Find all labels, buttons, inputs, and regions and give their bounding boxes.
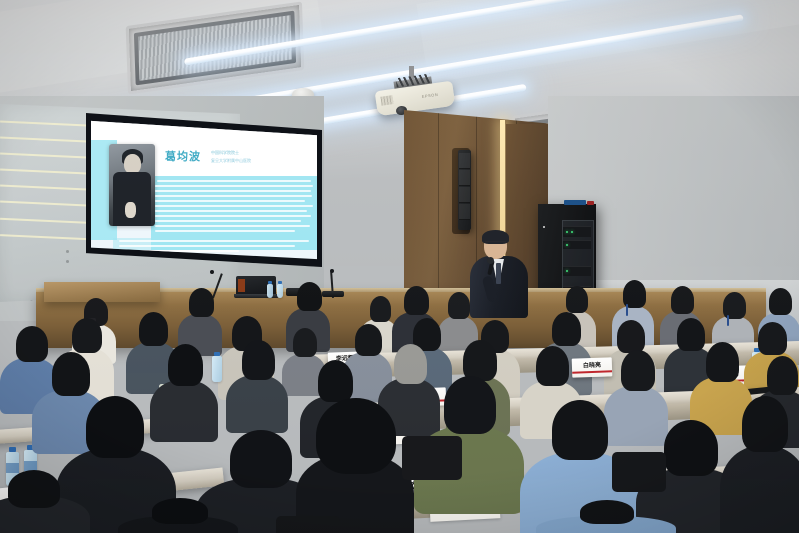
attendee-r5-2 xyxy=(118,498,238,533)
wall-line-array-speaker xyxy=(458,150,471,230)
podium-water-bottle-2 xyxy=(277,284,283,298)
rack-top-accessory-2 xyxy=(587,201,594,205)
podium-mic-head-1 xyxy=(210,270,214,274)
podium-water-bottle-1 xyxy=(267,284,273,298)
chair-back-3 xyxy=(276,516,340,533)
chair-back-2 xyxy=(612,452,666,492)
projection-screen-frame: 葛均波 中国科学院院士 复旦大学附属中山医院 xyxy=(86,113,322,267)
slide-portrait-photo xyxy=(109,144,155,226)
projection-screen-surface: 葛均波 中国科学院院士 复旦大学附属中山医院 xyxy=(91,118,317,262)
attendee-r3-3 xyxy=(226,340,288,428)
slide-honoree-name: 葛均波 xyxy=(165,148,201,164)
microphone-head xyxy=(487,257,494,264)
slide-subtitle-line-2: 复旦大学附属中山医院 xyxy=(211,158,251,164)
podium-mic-head-2 xyxy=(330,269,334,273)
attendee-r1-2 xyxy=(178,288,222,350)
chair-back-1 xyxy=(402,436,462,480)
conference-hall-photo: EPSON xyxy=(0,0,799,533)
standing-speaker xyxy=(470,232,528,316)
attendee-r4-7 xyxy=(720,396,799,533)
attendee-r5-3 xyxy=(536,500,676,533)
podium-laptop-accent xyxy=(238,279,245,292)
attendee-r4-3-woman xyxy=(296,398,414,533)
rack-top-accessory xyxy=(564,200,586,205)
projector-brand-label: EPSON xyxy=(421,92,438,99)
slide-subtitle-line-1: 中国科学院院士 xyxy=(211,150,239,156)
attendee-r5-1 xyxy=(0,470,90,533)
